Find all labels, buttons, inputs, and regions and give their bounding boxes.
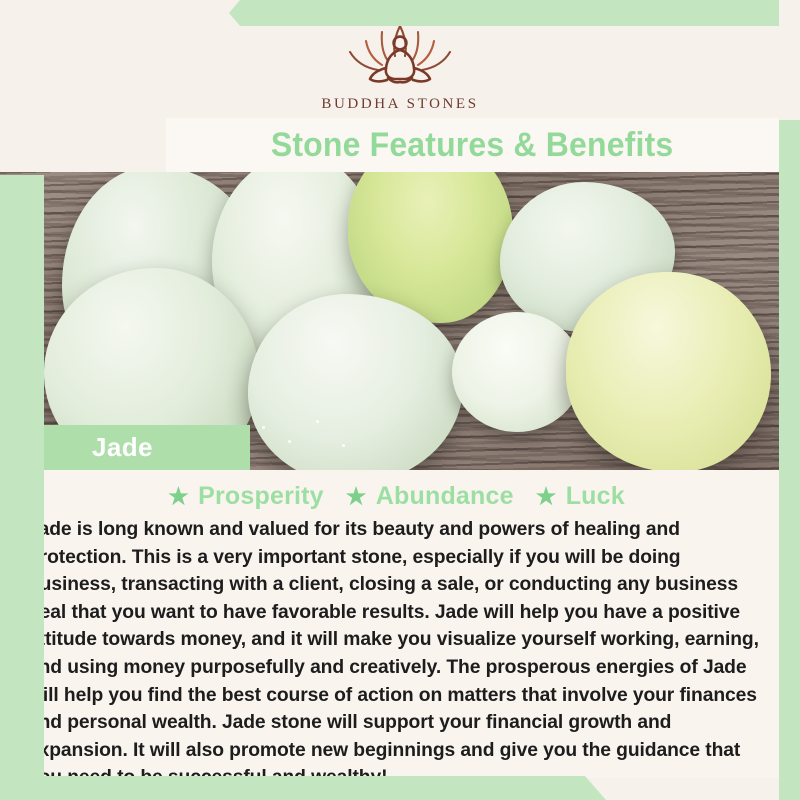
star-icon: ★	[166, 483, 191, 509]
sparkle-icon	[342, 444, 345, 447]
keyword-label: Luck	[566, 482, 635, 510]
sparkle-icon	[316, 420, 319, 423]
keyword-label: Abundance	[376, 482, 524, 510]
star-icon: ★	[344, 483, 369, 509]
sparkle-icon	[262, 426, 265, 429]
frame-accent-bottom	[0, 776, 606, 800]
stone-name-bar: Jade	[44, 425, 250, 470]
page-title: Stone Features & Benefits	[271, 126, 674, 165]
description-text: Jade is long known and valued for its be…	[22, 516, 779, 792]
jade-stone-8	[566, 272, 771, 470]
keyword-list: ★ Prosperity★ Abundance★ Luck	[22, 482, 779, 511]
keyword-item-1: ★ Abundance	[344, 482, 524, 510]
sparkle-icon	[288, 440, 291, 443]
jade-stone-7	[452, 312, 582, 432]
stone-name: Jade	[92, 432, 153, 463]
lotus-meditation-icon	[326, 16, 474, 92]
keyword-label: Prosperity	[198, 482, 334, 510]
frame-accent-left	[0, 175, 44, 783]
keyword-item-0: ★ Prosperity	[166, 482, 334, 510]
title-banner: Stone Features & Benefits	[166, 118, 779, 172]
description-panel: ★ Prosperity★ Abundance★ Luck Jade is lo…	[22, 470, 779, 778]
star-icon: ★	[534, 483, 559, 509]
brand-name: BUDDHA STONES	[0, 96, 800, 113]
frame-accent-right	[779, 0, 800, 800]
frame-accent-top	[218, 0, 800, 26]
brand-logo: BUDDHA STONES	[0, 16, 800, 113]
stone-info-card: BUDDHA STONES Stone Features & Benefits …	[0, 0, 800, 800]
keyword-item-2: ★ Luck	[534, 482, 635, 510]
